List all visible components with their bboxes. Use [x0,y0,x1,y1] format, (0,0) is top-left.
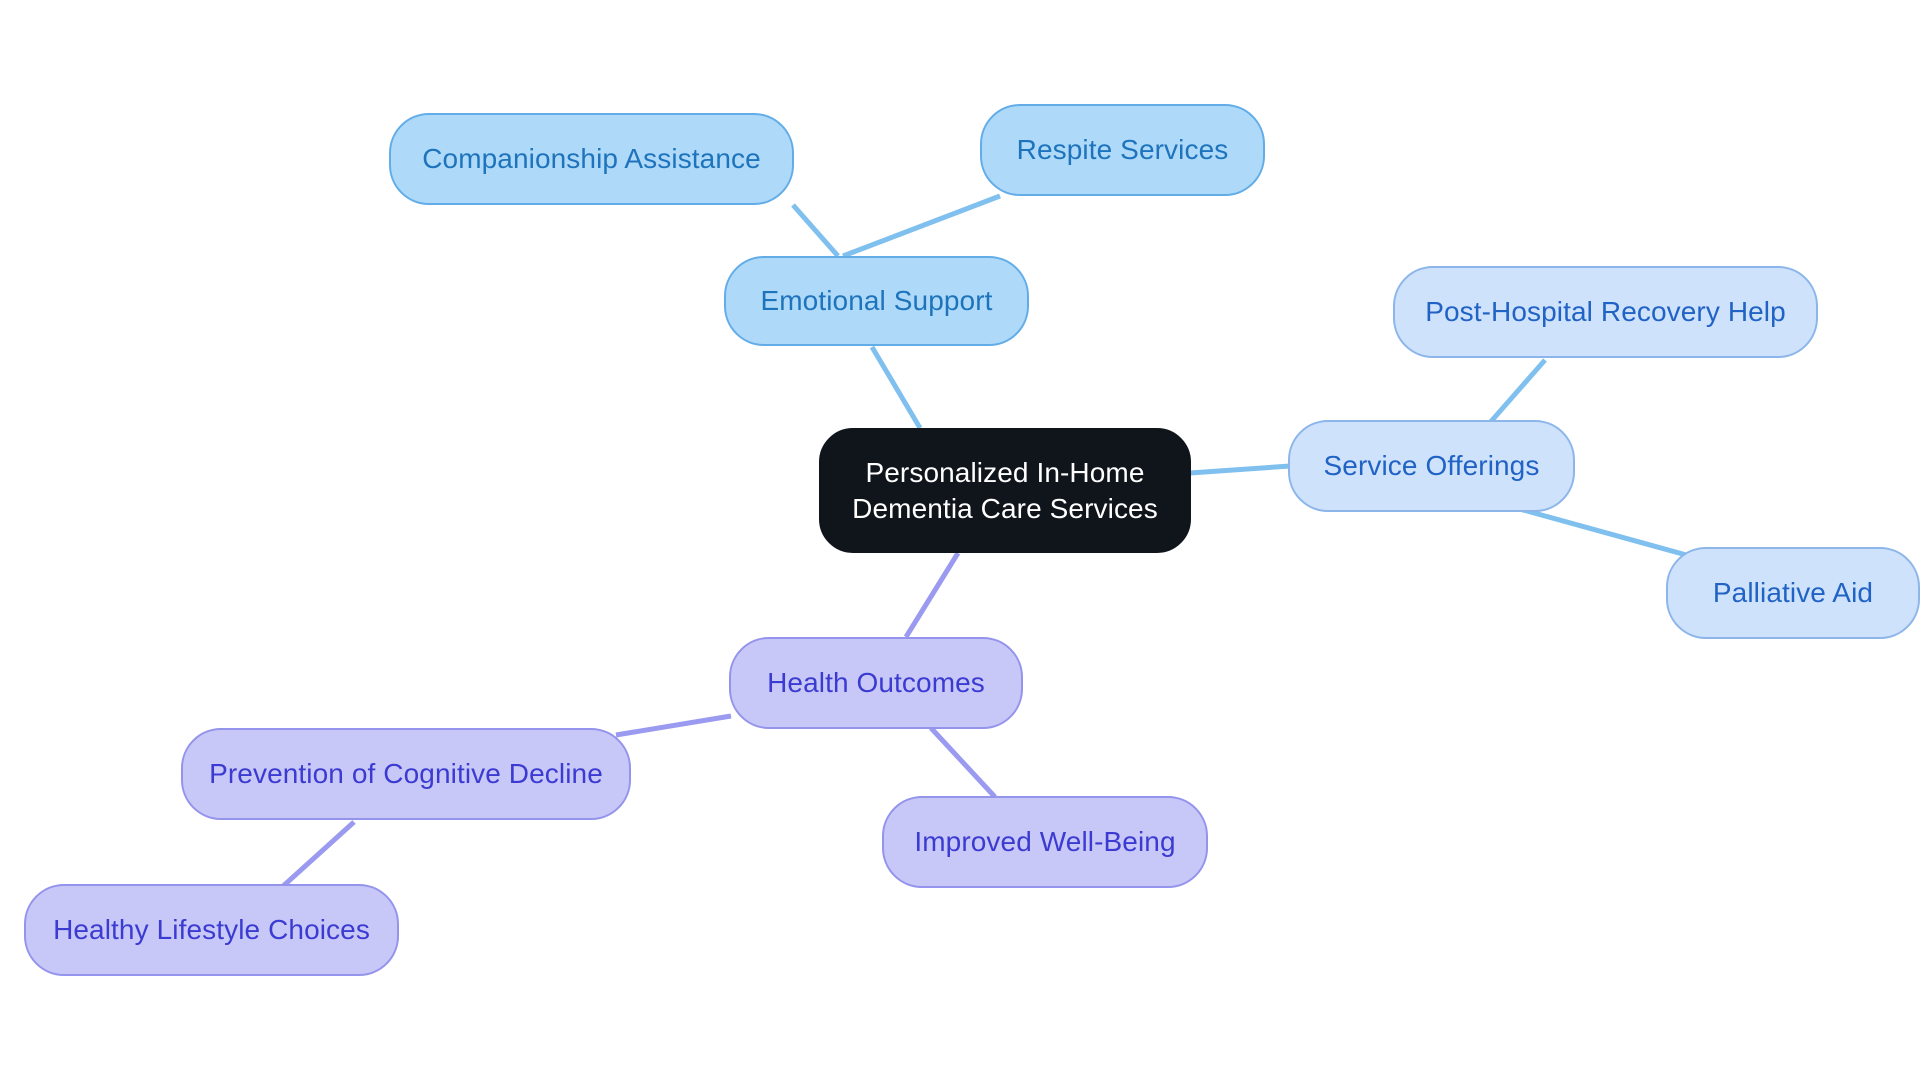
mindmap-node-root[interactable]: Personalized In-Home Dementia Care Servi… [819,428,1191,553]
mindmap-node-service-offerings[interactable]: Service Offerings [1288,420,1575,512]
mindmap-node-companionship-assistance[interactable]: Companionship Assistance [389,113,794,205]
edge-emotional-support-companionship [793,205,838,256]
edge-emotional-support-respite [843,196,1000,256]
edge-service-offerings-palliative-aid [1516,508,1690,556]
edge-health-outcomes-improved-well-being [931,728,995,797]
edge-root-health-outcomes [906,553,958,637]
edge-health-outcomes-prevention [616,716,731,735]
mindmap-node-post-hospital-recovery-help[interactable]: Post-Hospital Recovery Help [1393,266,1818,358]
mindmap-node-respite-services[interactable]: Respite Services [980,104,1265,196]
mindmap-node-healthy-lifestyle-choices[interactable]: Healthy Lifestyle Choices [24,884,399,976]
mindmap-node-health-outcomes[interactable]: Health Outcomes [729,637,1023,729]
edge-root-service-offerings [1190,466,1290,473]
mindmap-node-emotional-support[interactable]: Emotional Support [724,256,1029,346]
edge-prevention-healthy-lifestyle [281,822,354,888]
mindmap-node-palliative-aid[interactable]: Palliative Aid [1666,547,1920,639]
mindmap-node-improved-well-being[interactable]: Improved Well-Being [882,796,1208,888]
edge-root-emotional-support [872,347,920,428]
mindmap-canvas: Personalized In-Home Dementia Care Servi… [0,0,1920,1083]
mindmap-node-prevention-of-cognitive-decline[interactable]: Prevention of Cognitive Decline [181,728,631,820]
